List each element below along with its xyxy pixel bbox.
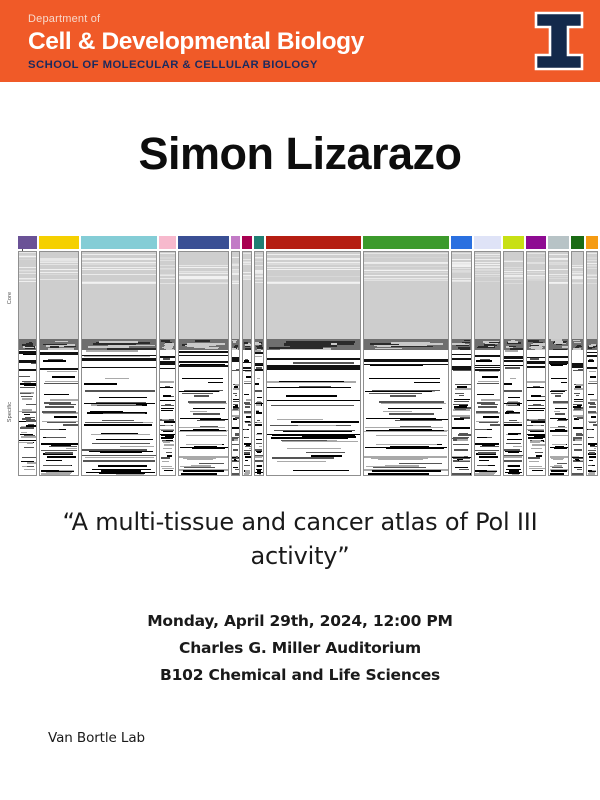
heatmap-specific-block <box>40 350 78 475</box>
pol3-activity-heatmap-figure: CoreSpecific <box>0 230 600 480</box>
heatmap-column <box>586 251 597 476</box>
heatmap-specific-block <box>82 350 156 475</box>
heatmap-specific-block <box>587 350 596 475</box>
colorbar-segment <box>503 236 524 249</box>
event-datetime: Monday, April 29th, 2024, 12:00 PM <box>0 608 600 635</box>
heatmap-core-block <box>160 252 175 339</box>
heatmap-transition-band <box>572 339 583 350</box>
heatmap-specific-block <box>572 350 583 475</box>
illinois-block-i-logo <box>530 10 588 72</box>
heatmap-transition-band <box>232 339 240 350</box>
heatmap-core-block <box>255 252 263 339</box>
heatmap-core-block <box>179 252 228 339</box>
colorbar-segment <box>474 236 501 249</box>
heatmap-specific-block <box>160 350 175 475</box>
colorbar-segment <box>81 236 157 249</box>
school-name: SCHOOL OF MOLECULAR & CELLULAR BIOLOGY <box>28 58 364 72</box>
heatmap-transition-band <box>267 339 360 350</box>
department-eyebrow: Department of <box>28 12 364 26</box>
colorbar-segment <box>18 236 37 249</box>
heatmap-column <box>363 251 449 476</box>
colorbar-segment <box>159 236 176 249</box>
header-banner: Department of Cell & Developmental Biolo… <box>0 0 600 82</box>
heatmap-column <box>548 251 569 476</box>
event-details: Monday, April 29th, 2024, 12:00 PM Charl… <box>0 608 600 689</box>
heatmap-specific-block <box>179 350 228 475</box>
lab-name: Van Bortle Lab <box>48 730 145 746</box>
heatmap-specific-block <box>504 350 523 475</box>
heatmap-column <box>571 251 584 476</box>
colorbar-segment <box>254 236 264 249</box>
colorbar-segment <box>266 236 361 249</box>
heatmap-core-block <box>267 252 360 339</box>
heatmap-column <box>39 251 79 476</box>
heatmap-core-block <box>587 252 596 339</box>
heatmap-specific-block <box>549 350 568 475</box>
heatmap-specific-block <box>452 350 471 475</box>
colorbar-segment <box>548 236 569 249</box>
heatmap-transition-band <box>255 339 263 350</box>
heatmap-core-block <box>527 252 546 339</box>
heatmap-core-block <box>232 252 240 339</box>
colorbar-segment <box>242 236 252 249</box>
row-group-label: Specific <box>7 392 13 432</box>
heatmap-column <box>474 251 501 476</box>
heatmap-transition-band <box>19 339 36 350</box>
heatmap-column <box>503 251 524 476</box>
heatmap-transition-band <box>179 339 228 350</box>
heatmap-transition-band <box>549 339 568 350</box>
heatmap-core-block <box>243 252 251 339</box>
heatmap-column <box>18 251 37 476</box>
row-group-label: Core <box>7 278 13 318</box>
colorbar-segment <box>39 236 79 249</box>
heatmap-core-block <box>364 252 448 339</box>
heatmap-core-block <box>452 252 471 339</box>
colorbar-segment <box>526 236 547 249</box>
heatmap-column <box>254 251 264 476</box>
heatmap-transition-band <box>504 339 523 350</box>
heatmap-transition-band <box>475 339 500 350</box>
heatmap-core-block <box>549 252 568 339</box>
heatmap-specific-block <box>364 350 448 475</box>
heatmap-category-colorbar <box>18 236 592 249</box>
heatmap-core-block <box>82 252 156 339</box>
heatmap-core-block <box>572 252 583 339</box>
heatmap-transition-band <box>364 339 448 350</box>
heatmap-column <box>81 251 157 476</box>
heatmap-specific-block <box>243 350 251 475</box>
heatmap-column <box>451 251 472 476</box>
colorbar-segment <box>571 236 584 249</box>
talk-title: “A multi-tissue and cancer atlas of Pol … <box>40 505 560 573</box>
colorbar-segment <box>363 236 449 249</box>
heatmap-core-block <box>475 252 500 339</box>
header-text-block: Department of Cell & Developmental Biolo… <box>28 12 364 72</box>
heatmap-column <box>231 251 241 476</box>
heatmap-transition-band <box>82 339 156 350</box>
heatmap-transition-band <box>527 339 546 350</box>
heatmap-specific-block <box>19 350 36 475</box>
heatmap-column <box>178 251 229 476</box>
heatmap-columns <box>18 251 592 476</box>
heatmap-column <box>242 251 252 476</box>
colorbar-segment <box>231 236 241 249</box>
heatmap-transition-band <box>243 339 251 350</box>
heatmap-specific-block <box>475 350 500 475</box>
heatmap-transition-band <box>160 339 175 350</box>
heatmap-transition-band <box>587 339 596 350</box>
colorbar-segment <box>586 236 597 249</box>
event-venue: Charles G. Miller Auditorium <box>0 635 600 662</box>
heatmap-core-block <box>40 252 78 339</box>
heatmap-core-block <box>504 252 523 339</box>
heatmap-transition-band <box>40 339 78 350</box>
heatmap-specific-block <box>267 350 360 475</box>
colorbar-segment <box>178 236 229 249</box>
event-building: B102 Chemical and Life Sciences <box>0 662 600 689</box>
heatmap-column <box>526 251 547 476</box>
heatmap-column <box>266 251 361 476</box>
heatmap-specific-block <box>232 350 240 475</box>
department-name: Cell & Developmental Biology <box>28 27 364 56</box>
speaker-name: Simon Lizarazo <box>0 128 600 180</box>
heatmap-specific-block <box>255 350 263 475</box>
heatmap-transition-band <box>452 339 471 350</box>
heatmap-core-block <box>19 252 36 339</box>
colorbar-segment <box>451 236 472 249</box>
heatmap-column <box>159 251 176 476</box>
heatmap-specific-block <box>527 350 546 475</box>
